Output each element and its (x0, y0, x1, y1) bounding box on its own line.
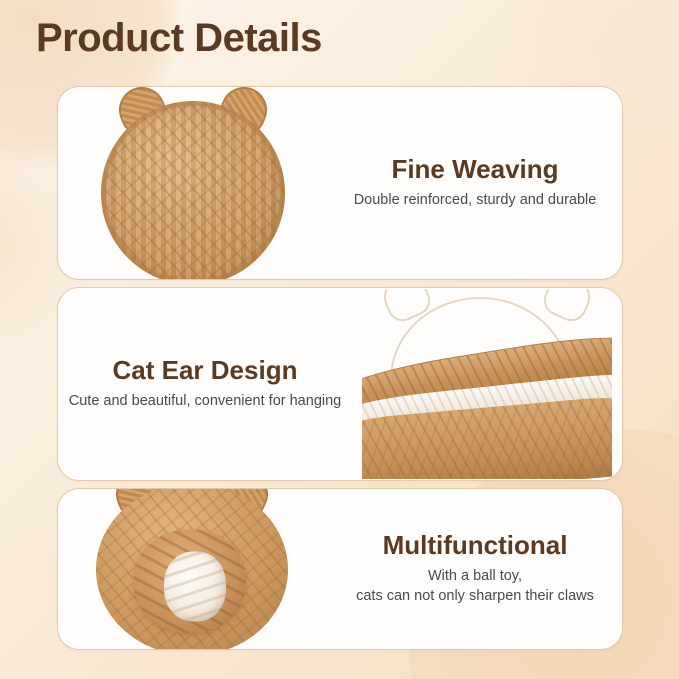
feature-card-multifunctional: Multifunctional With a ball toy, cats ca… (57, 488, 623, 650)
woven-mat-illustration (93, 86, 293, 280)
woven-mat-body (101, 101, 285, 280)
feature-copy-fine-weaving: Fine Weaving Double reinforced, sturdy a… (328, 155, 622, 210)
feature-subline-line1: With a ball toy, (334, 567, 616, 587)
feature-subline-line2: cats can not only sharpen their claws (334, 587, 616, 607)
page-title: Product Details (36, 16, 322, 61)
feature-card-fine-weaving: Fine Weaving Double reinforced, sturdy a… (57, 86, 623, 280)
product-image-fine-weaving (58, 87, 328, 279)
rope-closeup-illustration (362, 289, 612, 479)
feature-headline: Multifunctional (334, 531, 616, 561)
cat-ear-outline-right-icon (539, 289, 597, 326)
feature-card-cat-ear-design: Cat Ear Design Cute and beautiful, conve… (57, 287, 623, 481)
product-details-page: Product Details Fine Weaving Double rein… (0, 0, 679, 679)
feature-subline: Cute and beautiful, convenient for hangi… (64, 392, 346, 412)
feature-copy-cat-ear-design: Cat Ear Design Cute and beautiful, conve… (58, 356, 352, 411)
rope-knot-white (164, 552, 226, 622)
product-image-cat-ear-design (352, 288, 622, 480)
feature-copy-multifunctional: Multifunctional With a ball toy, cats ca… (328, 531, 622, 606)
feature-subline: Double reinforced, sturdy and durable (334, 191, 616, 211)
ball-toy-illustration (78, 488, 308, 650)
product-image-multifunctional (58, 489, 328, 649)
feature-headline: Cat Ear Design (64, 356, 346, 386)
feature-headline: Fine Weaving (334, 155, 616, 185)
